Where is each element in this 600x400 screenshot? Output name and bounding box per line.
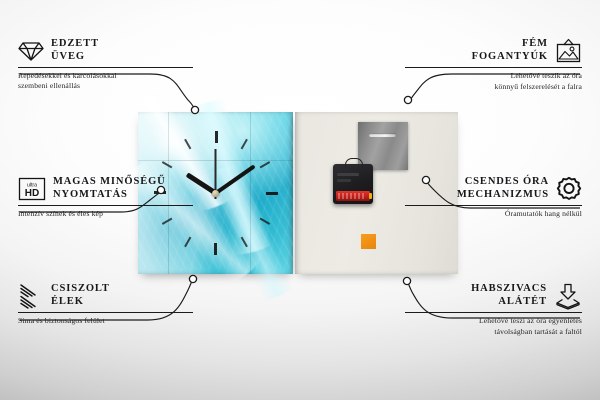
diamond-icon	[18, 40, 44, 62]
battery	[336, 191, 370, 201]
feature-tempered-glass[interactable]: EDZETT ÜVEG Repedésekkel és karcolásokka…	[18, 38, 193, 92]
divider	[18, 205, 193, 206]
ultra-hd-icon: ultra HD	[18, 177, 46, 201]
feature-title-row: HABSZIVACS ALÁTÉT	[405, 283, 582, 309]
battery-label	[338, 193, 365, 199]
tick-6	[215, 193, 217, 255]
feature-title-row: EDZETT ÜVEG	[18, 38, 193, 64]
divider	[18, 312, 193, 313]
movement-detail	[337, 173, 359, 176]
tick-3	[216, 192, 278, 194]
divider	[405, 205, 582, 206]
gear-icon	[556, 176, 582, 202]
feature-title-row: CSENDES ÓRA MECHANIZMUS	[405, 176, 582, 202]
foam-pad	[361, 234, 376, 249]
feature-description: Sima és biztonságos felület	[18, 316, 193, 327]
divider	[405, 312, 582, 313]
feature-title-row: CSISZOLT ÉLEK	[18, 283, 193, 309]
feature-description: Repedésekkel és karcolásokkal szembeni e…	[18, 71, 193, 93]
clock-movement-box	[333, 164, 373, 204]
feature-high-quality-print[interactable]: ultra HD MAGAS MINŐSÉGŰ NYOMTATÁS Intenz…	[18, 176, 193, 219]
divider	[405, 67, 582, 68]
feature-silent-mechanism[interactable]: CSENDES ÓRA MECHANIZMUS Óramutatók hang …	[405, 176, 582, 220]
feature-description: Intenzív színek és éles kép	[18, 209, 193, 220]
feature-foam-spacer[interactable]: HABSZIVACS ALÁTÉT Lehetővé teszi az óra …	[405, 283, 582, 338]
feature-description: Óramutatók hang nélkül	[405, 209, 582, 220]
feature-polished-edges[interactable]: CSISZOLT ÉLEK Sima és biztonságos felüle…	[18, 283, 193, 326]
feature-title: CSENDES ÓRA MECHANIZMUS	[457, 176, 549, 202]
leader-marker-handles	[404, 96, 411, 103]
clock-center-cap	[212, 190, 219, 197]
divider	[18, 67, 193, 68]
feature-title: HABSZIVACS ALÁTÉT	[471, 283, 547, 309]
infographic-canvas: EDZETT ÜVEG Repedésekkel és karcolásokka…	[0, 0, 600, 400]
movement-hanger-loop	[345, 158, 363, 168]
feature-title-row: FÉM FOGANTYÚK	[405, 38, 582, 64]
svg-text:HD: HD	[25, 188, 39, 199]
feature-description: Lehetővé teszik az óra könnyű felszerelé…	[405, 71, 582, 93]
picture-hanger-icon	[555, 38, 582, 64]
feature-title: MAGAS MINŐSÉGŰ NYOMTATÁS	[53, 176, 166, 202]
foam-pad-icon	[554, 283, 582, 309]
feature-title-row: ultra HD MAGAS MINŐSÉGŰ NYOMTATÁS	[18, 176, 193, 202]
movement-detail	[337, 179, 351, 182]
feature-metal-handles[interactable]: FÉM FOGANTYÚK Lehetővé teszik az óra kön…	[405, 38, 582, 93]
feature-description: Lehetővé teszi az óra egyenletes távolsá…	[405, 316, 582, 338]
metal-hanger-plate	[358, 122, 408, 170]
feature-title: EDZETT ÜVEG	[51, 38, 99, 64]
feature-title: FÉM FOGANTYÚK	[472, 38, 548, 64]
polished-edges-icon	[18, 284, 44, 308]
feature-title: CSISZOLT ÉLEK	[51, 283, 110, 309]
